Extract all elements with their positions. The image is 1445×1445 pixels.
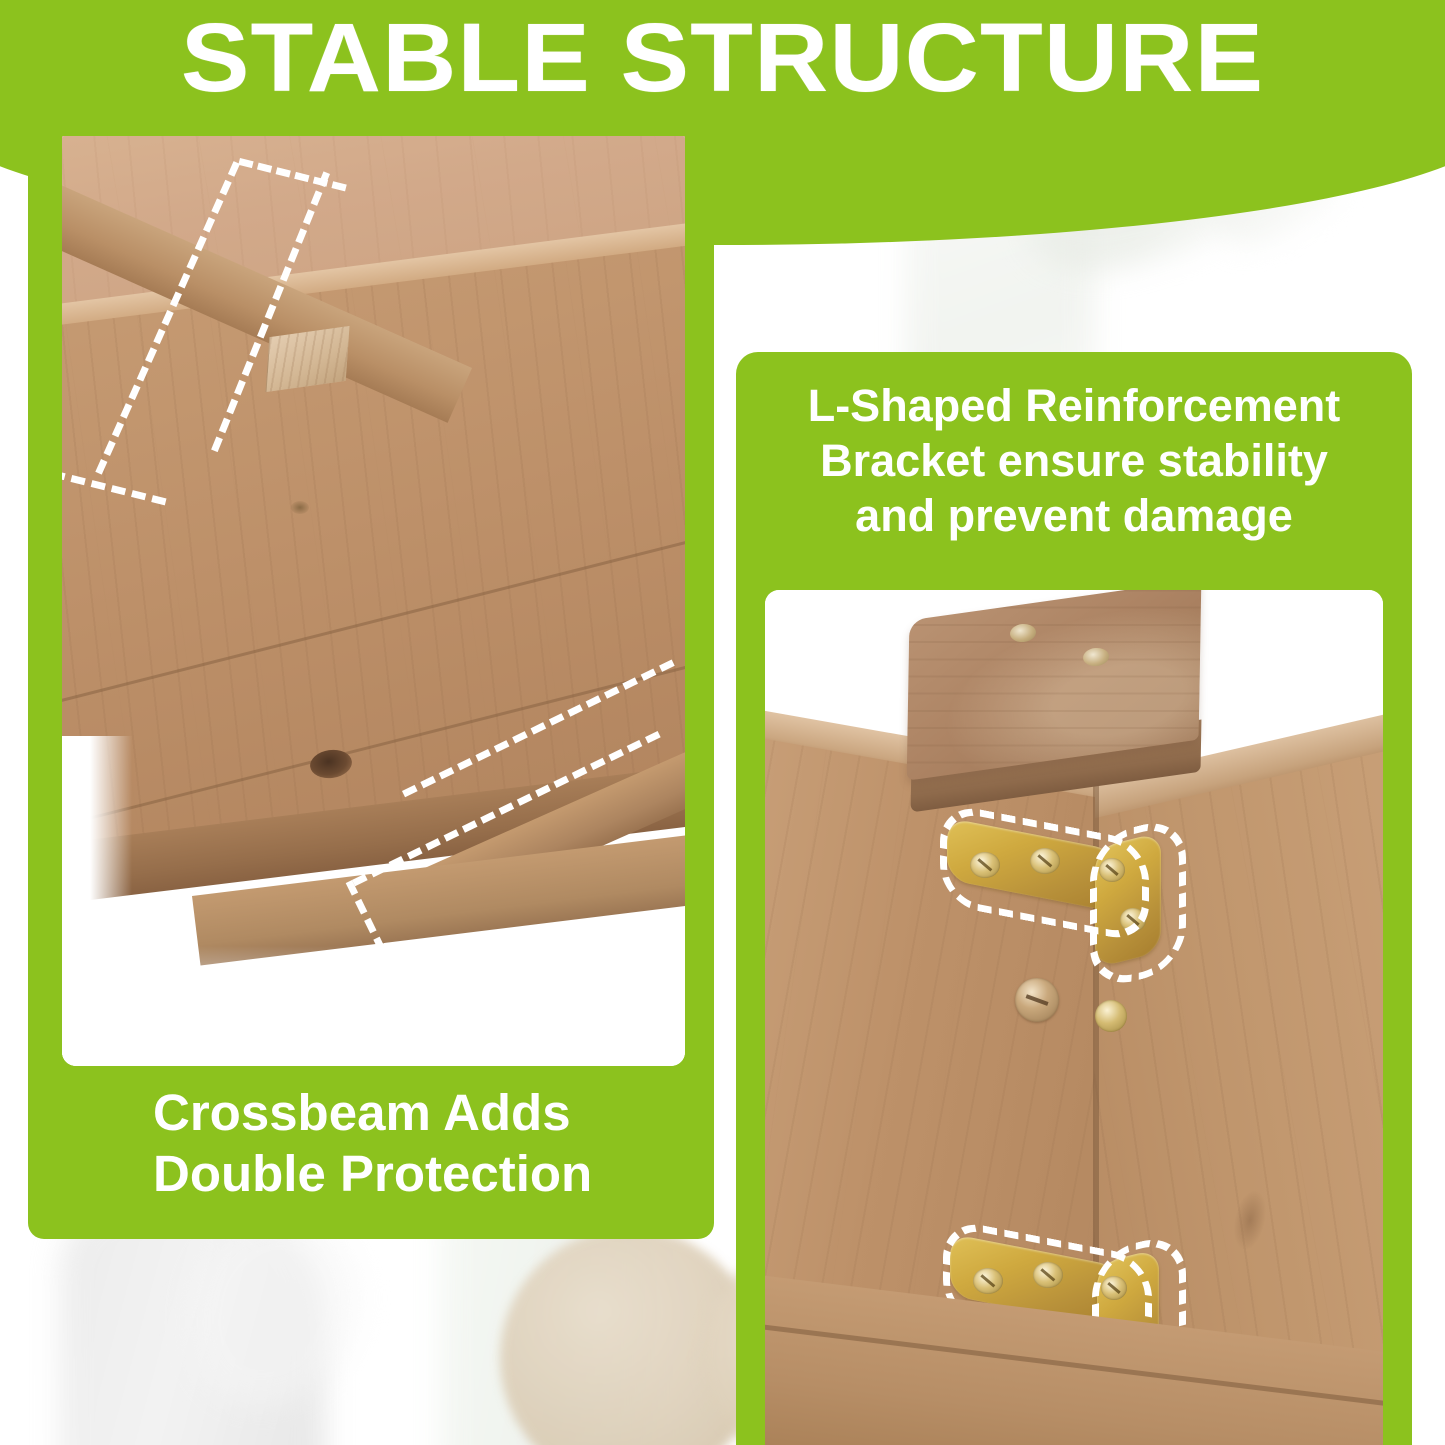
photo-fade-bottom [62,946,685,1066]
page-title: STABLE STRUCTURE [0,8,1445,108]
right-photo-frame [765,590,1383,1445]
left-caption: Crossbeam Adds Double Protection [58,1082,658,1204]
left-photo-frame [62,136,685,1066]
screw-head [291,501,309,514]
right-caption-line-2: Bracket ensure stability [742,433,1406,488]
wood-screw [1095,1000,1127,1032]
infographic-canvas: STABLE STRUCTURE [0,0,1445,1445]
right-caption-line-3: and prevent damage [742,488,1406,543]
right-product-photo [765,590,1383,1445]
left-caption-line-1: Crossbeam Adds [153,1082,658,1143]
left-product-photo [62,136,685,1066]
right-caption: L-Shaped Reinforcement Bracket ensure st… [742,378,1406,543]
left-caption-line-2: Double Protection [153,1143,658,1204]
watering-can-handle-icon [190,1215,360,1405]
right-caption-line-1: L-Shaped Reinforcement [742,378,1406,433]
wood-screw [1015,978,1059,1022]
